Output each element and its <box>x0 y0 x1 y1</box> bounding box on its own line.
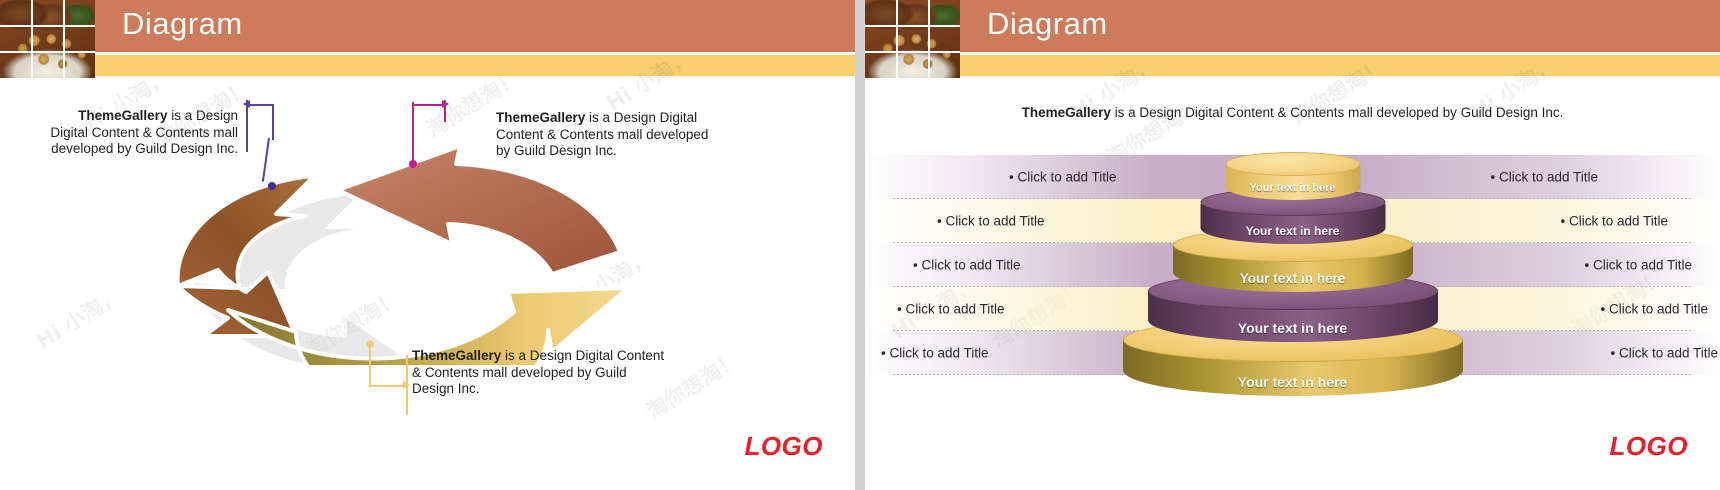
title-row[interactable]: • Click to add Title • Click to add Titl… <box>865 243 1720 287</box>
callout-2-bold: ThemeGallery <box>496 110 585 125</box>
row-label-right[interactable]: • Click to add Title <box>1584 258 1692 273</box>
logo-text: LOGO <box>744 431 823 462</box>
title-row[interactable]: • Click to add Title • Click to add Titl… <box>865 199 1720 243</box>
row-label-right[interactable]: • Click to add Title <box>1490 170 1598 185</box>
title-row[interactable]: • Click to add Title • Click to add Titl… <box>865 155 1720 199</box>
row-label-right[interactable]: • Click to add Title <box>1560 214 1668 229</box>
grid-line-horizontal-1 <box>865 25 960 27</box>
header-gold-band <box>0 55 855 76</box>
grid-line-vertical-2 <box>928 0 930 78</box>
row-label-left[interactable]: • Click to add Title <box>937 214 1045 229</box>
row-label-left[interactable]: • Click to add Title <box>897 302 1005 317</box>
row-label-right[interactable]: • Click to add Title <box>1600 302 1708 317</box>
slide-right: Diagram Hi 小淘， 淘你想淘！ 淘你想淘！ Hi 小淘， Hi 小淘，… <box>865 0 1720 490</box>
grid-line-vertical-2 <box>63 0 65 78</box>
intro-rest: is a Design Digital Content & Contents m… <box>1111 105 1564 120</box>
slide-divider <box>855 0 865 490</box>
logo-text: LOGO <box>1609 431 1688 462</box>
header-gold-band <box>865 55 1720 76</box>
arrow-head-purple <box>243 100 250 108</box>
slide-deck: Diagram Hi 小淘， 淘你想淘！ 淘你想淘！ Hi 小淘， 淘你想淘！ … <box>0 0 1720 490</box>
slide-left: Diagram Hi 小淘， 淘你想淘！ 淘你想淘！ Hi 小淘， 淘你想淘！ … <box>0 0 855 490</box>
slide-header-left: Diagram <box>0 0 855 78</box>
cylinder-label: Your text in here <box>1123 374 1463 390</box>
page-title: Diagram <box>987 6 1108 42</box>
callout-1-bold: ThemeGallery <box>78 108 167 123</box>
row-label-left[interactable]: • Click to add Title <box>881 346 989 361</box>
title-row[interactable]: • Click to add Title • Click to add Titl… <box>865 331 1720 375</box>
callout-3-bold: ThemeGallery <box>412 348 501 363</box>
callout-text-3: ThemeGallery is a Design Digital Content… <box>412 348 672 398</box>
row-label-right[interactable]: • Click to add Title <box>1610 346 1718 361</box>
food-photo-thumbnail-grid <box>865 0 960 78</box>
grid-line-vertical-1 <box>896 0 898 78</box>
grid-line-vertical-1 <box>31 0 33 78</box>
callout-text-1: ThemeGallery is a Design Digital Content… <box>48 108 238 158</box>
intro-bold: ThemeGallery <box>1022 105 1111 120</box>
row-label-left[interactable]: • Click to add Title <box>1009 170 1117 185</box>
page-title: Diagram <box>122 6 243 42</box>
connector-dot-purple <box>268 182 276 190</box>
slide-header-right: Diagram <box>865 0 1720 78</box>
row-label-left[interactable]: • Click to add Title <box>913 258 1021 273</box>
grid-line-horizontal-2 <box>865 51 960 53</box>
food-photo-image <box>865 0 960 78</box>
title-rows: • Click to add Title • Click to add Titl… <box>865 155 1720 375</box>
grid-line-horizontal-2 <box>0 51 95 53</box>
row-band <box>865 331 1720 375</box>
circular-cycle-diagram <box>100 140 660 365</box>
row-separator <box>893 374 1692 375</box>
title-row[interactable]: • Click to add Title • Click to add Titl… <box>865 287 1720 331</box>
food-photo-image <box>0 0 95 78</box>
food-photo-thumbnail-grid <box>0 0 95 78</box>
grid-line-horizontal-1 <box>0 25 95 27</box>
intro-text: ThemeGallery is a Design Digital Content… <box>865 104 1720 121</box>
connector-dot-magenta <box>409 160 417 168</box>
callout-text-2: ThemeGallery is a Design Digital Content… <box>496 110 718 160</box>
